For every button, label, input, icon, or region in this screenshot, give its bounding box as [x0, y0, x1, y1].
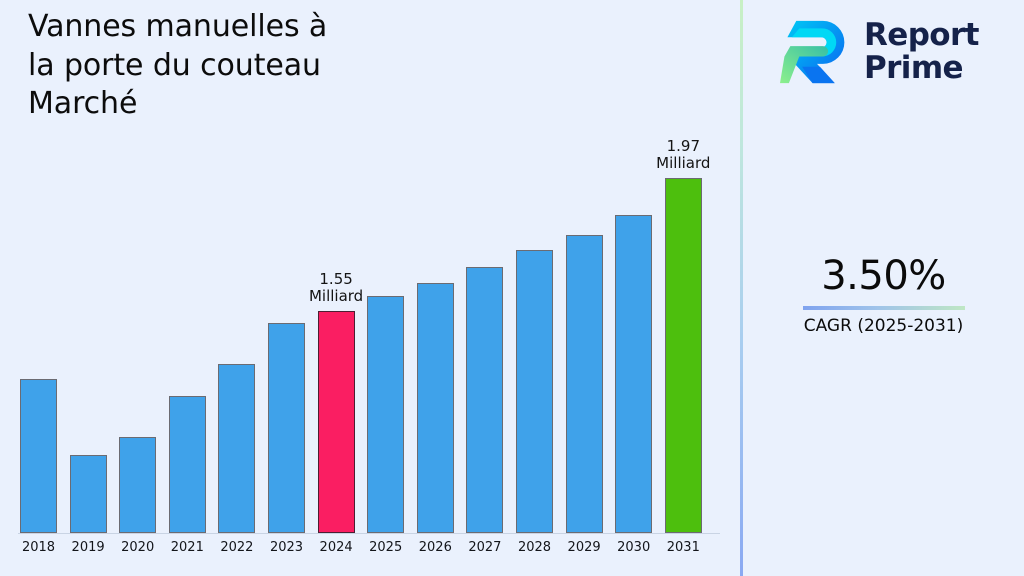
bar-2028[interactable] — [516, 250, 553, 533]
chart-panel: Vannes manuelles à la porte du couteau M… — [0, 0, 740, 576]
bar-chart-plot-area: 1.55 Milliard1.97 Milliard 2018201920202… — [0, 0, 740, 576]
bar-2020[interactable] — [119, 437, 156, 533]
bar-2026[interactable] — [417, 283, 454, 533]
x-axis-line — [18, 533, 720, 534]
bar-2021[interactable] — [169, 396, 206, 533]
brand-logo[interactable]: Report Prime — [780, 12, 1020, 92]
bar-2031[interactable] — [665, 178, 702, 533]
bar-2030[interactable] — [615, 215, 652, 533]
bar-2027[interactable] — [466, 267, 503, 533]
cagr-divider — [803, 306, 965, 310]
x-tick-label-2031: 2031 — [653, 540, 713, 555]
cagr-caption: CAGR (2025-2031) — [743, 316, 1024, 336]
report-prime-logo-mark — [780, 15, 854, 89]
bar-2024[interactable] — [318, 311, 355, 533]
cagr-value: 3.50% — [743, 252, 1024, 300]
bar-2022[interactable] — [218, 364, 255, 533]
cagr-block: 3.50% CAGR (2025-2031) — [743, 252, 1024, 336]
bar-value-label-2024: 1.55 Milliard — [291, 271, 381, 305]
bar-value-label-2031: 1.97 Milliard — [638, 138, 728, 172]
summary-panel: Report Prime 3.50% CAGR (2025-2031) — [743, 0, 1024, 576]
bar-2018[interactable] — [20, 379, 57, 533]
bar-2019[interactable] — [70, 455, 107, 533]
brand-wordmark: Report Prime — [864, 19, 979, 85]
bar-2025[interactable] — [367, 296, 404, 533]
bar-2029[interactable] — [566, 235, 603, 533]
infographic-root: Vannes manuelles à la porte du couteau M… — [0, 0, 1024, 576]
bar-2023[interactable] — [268, 323, 305, 533]
